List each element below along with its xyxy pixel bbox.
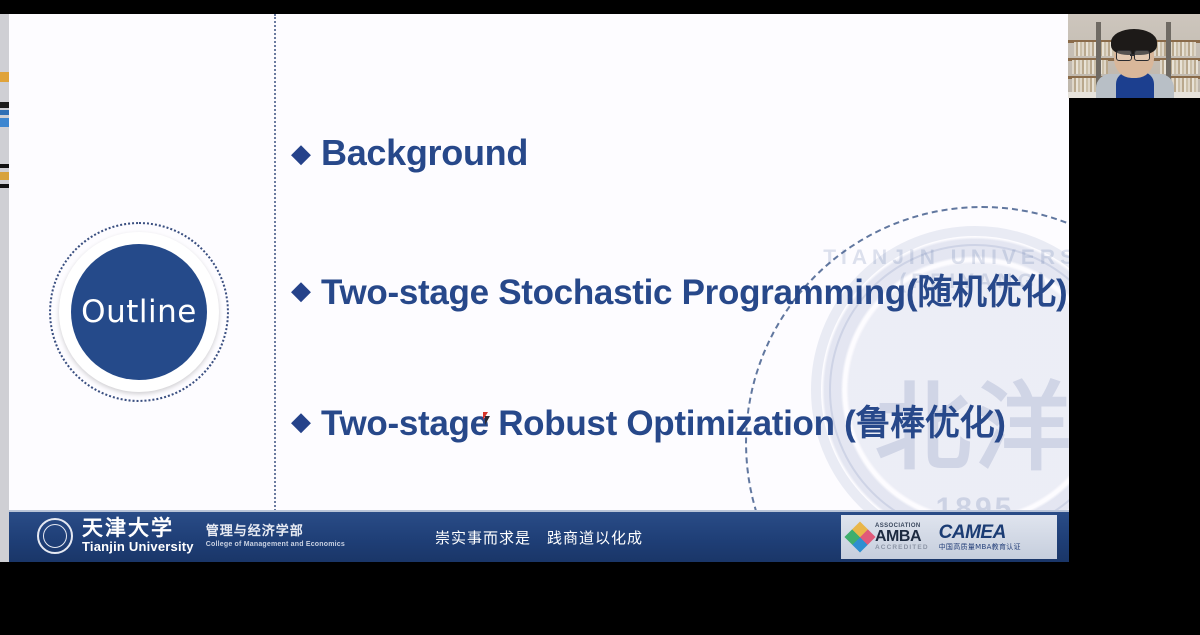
bullet-item-stochastic-programming[interactable]: ◆ Two-stage Stochastic Programming(随机优化) (291, 264, 1067, 315)
amba-logo: ASSOCIATION AMBA ACCREDITED (849, 523, 929, 552)
diamond-bullet-icon: ◆ (291, 408, 311, 434)
bullet-text: Two-stage Stochastic Programming(随机优化) (321, 264, 1067, 315)
outline-badge: Outline (49, 222, 229, 402)
sliver-stripe (0, 110, 9, 115)
dashed-arc-decoration (745, 206, 1069, 562)
dotted-vertical-divider (274, 14, 276, 562)
camea-logo: CAMEA 中国高质量MBA教育认证 (939, 523, 1021, 552)
accreditation-logos: ASSOCIATION AMBA ACCREDITED CAMEA 中国高质量M… (841, 515, 1057, 559)
sliver-stripe (0, 172, 9, 180)
bullet-text: Background (321, 132, 528, 174)
sliver-stripe (0, 102, 9, 108)
books (1072, 60, 1108, 74)
sliver-stripe (0, 184, 9, 188)
badge-circle: Outline (71, 244, 207, 380)
diamond-bullet-icon: ◆ (291, 277, 311, 303)
amba-main-text: AMBA (875, 529, 929, 545)
sliver-stripe (0, 118, 9, 127)
background-window-sliver[interactable] (0, 14, 9, 562)
webcam-video-overlay[interactable] (1068, 14, 1200, 98)
glasses-lens-left (1116, 50, 1132, 61)
bullet-item-background[interactable]: ◆ Background (291, 132, 528, 174)
cursor-arrow (485, 416, 490, 425)
glasses-lens-right (1134, 50, 1150, 61)
amba-bottom-text: ACCREDITED (875, 545, 929, 552)
books (1154, 42, 1196, 56)
camea-sub-text: 中国高质量MBA教育认证 (939, 544, 1021, 552)
mouse-cursor-icon (483, 412, 492, 426)
amba-diamond-icon (844, 521, 875, 552)
bullet-text: Two-stage Robust Optimization (鲁棒优化) (321, 395, 1006, 446)
presentation-slide[interactable]: TIANJIN UNIVERSITY (PEIYANG) 北洋 1895 Out… (9, 14, 1069, 562)
diamond-bullet-icon: ◆ (291, 140, 311, 166)
sliver-stripe (0, 164, 9, 168)
bullet-item-robust-optimization[interactable]: ◆ Two-stage Robust Optimization (鲁棒优化) (291, 395, 1006, 446)
camea-main-text: CAMEA (939, 523, 1021, 544)
outline-label: Outline (81, 294, 197, 330)
sliver-stripe (0, 72, 9, 82)
slide-footer: 天津大学 Tianjin University 管理与经济学部 College … (9, 512, 1069, 562)
glasses-bridge (1130, 54, 1134, 56)
screen: TIANJIN UNIVERSITY (PEIYANG) 北洋 1895 Out… (0, 0, 1200, 635)
